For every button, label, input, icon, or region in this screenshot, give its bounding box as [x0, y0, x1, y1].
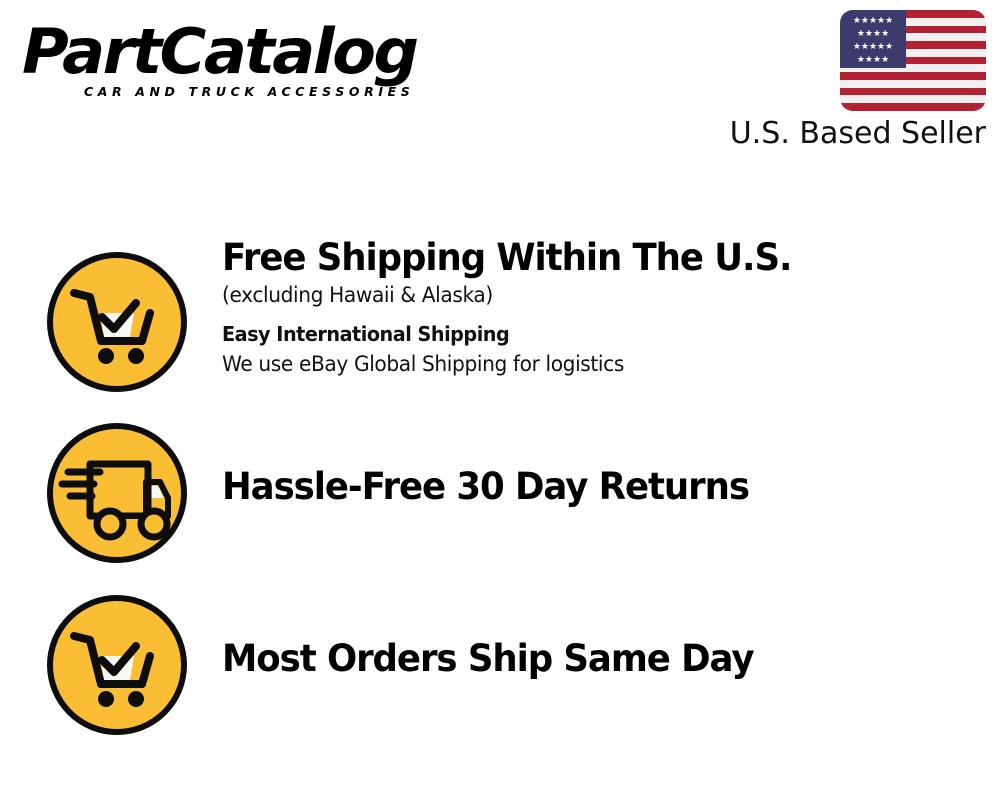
- brand-wordmark: PartCatalog: [22, 18, 506, 86]
- benefit-title: Free Shipping Within The U.S.: [222, 236, 952, 280]
- benefit-text-block: Most Orders Ship Same Day: [222, 637, 982, 681]
- benefit-text-block: Hassle-Free 30 Day Returns: [222, 465, 982, 509]
- benefit-subtitle-strong: Easy International Shipping: [222, 319, 952, 349]
- shopping-cart-check-icon: [44, 249, 190, 395]
- benefit-title: Hassle-Free 30 Day Returns: [222, 465, 952, 509]
- spacer: [222, 310, 982, 319]
- benefit-subtitle: (excluding Hawaii & Alaska): [222, 280, 952, 310]
- us-flag-icon: ★★★★★ ★★★★ ★★★★★ ★★★★: [840, 10, 986, 111]
- brand-logo[interactable]: PartCatalog CAR AND TRUCK ACCESSORIES: [22, 18, 492, 118]
- delivery-truck-icon: [44, 420, 190, 566]
- us-based-seller-label: U.S. Based Seller: [586, 116, 986, 152]
- benefit-title: Most Orders Ship Same Day: [222, 637, 952, 681]
- shopping-cart-check-icon: [44, 592, 190, 738]
- benefit-text-block: Free Shipping Within The U.S. (excluding…: [222, 236, 982, 379]
- flag-canton: ★★★★★ ★★★★ ★★★★★ ★★★★: [840, 10, 906, 68]
- benefit-subtitle-detail: We use eBay Global Shipping for logistic…: [222, 349, 952, 379]
